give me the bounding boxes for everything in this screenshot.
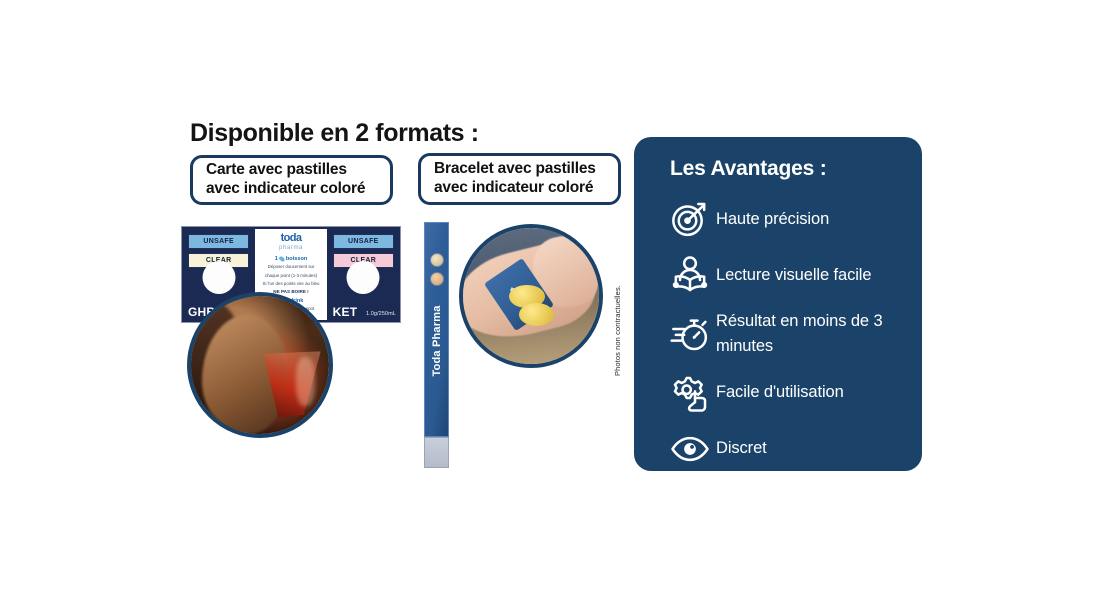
- photo-disclaimer: Photos non contractuelles.: [613, 285, 622, 376]
- instruction-fr-line3: Si l'un des points vire au bleu: [263, 281, 320, 287]
- format-box-bracelet[interactable]: Bracelet avec pastilles avec indicateur …: [418, 153, 621, 205]
- stopwatch-icon: [664, 314, 716, 354]
- instruction-fr-line1: Déposer doucement sur: [268, 264, 315, 270]
- strap-body: Toda Pharma: [424, 222, 449, 437]
- ghb-chip-unsafe: UNSAFE: [188, 234, 249, 249]
- photo-drink-inner: [191, 296, 329, 434]
- advantage-item-reading: Lecture visuelle facile: [664, 253, 912, 297]
- advantage-label-discreet: Discret: [716, 436, 767, 461]
- strap-pastille-2: [430, 272, 444, 286]
- advantage-label-speed: Résultat en moins de 3 minutes: [716, 309, 912, 359]
- advantage-label-precision: Haute précision: [716, 207, 829, 232]
- instruction-fr-warning: NE PAS BOIRE !: [273, 289, 308, 294]
- advantages-panel: Les Avantages : Haute précision: [634, 137, 922, 471]
- format-bracelet-line1: Bracelet avec pastilles: [434, 160, 596, 179]
- promo-graphic: Disponible en 2 formats : Carte avec pas…: [0, 0, 1100, 611]
- photo-wrist-bracelet: [459, 224, 603, 368]
- photo-wrist-pastille-2: [519, 303, 554, 326]
- ket-label: KET: [333, 305, 358, 319]
- strap-pastille-1: [430, 253, 444, 267]
- ket-chip-unsafe: UNSAFE: [333, 234, 394, 249]
- strap-tail: [424, 437, 449, 468]
- format-carte-text: Carte avec pastilles avec indicateur col…: [193, 161, 365, 199]
- advantage-item-speed: Résultat en moins de 3 minutes: [664, 309, 912, 359]
- photo-woman-drinking: [187, 292, 333, 438]
- target-icon: [664, 199, 716, 239]
- instruction-fr-line2: chaque point (1-3 minutes): [265, 273, 317, 279]
- page-title: Disponible en 2 formats :: [190, 119, 479, 148]
- drop-icon: [278, 256, 285, 263]
- advantage-label-ease: Facile d'utilisation: [716, 380, 844, 405]
- eye-icon: [664, 429, 716, 469]
- toda-logo-top: toda: [281, 233, 302, 244]
- advantage-item-discreet: Discret: [664, 427, 912, 471]
- format-box-carte[interactable]: Carte avec pastilles avec indicateur col…: [190, 155, 393, 205]
- card-panel-ket: UNSAFE CLEAR KET 1.0g/250mL: [327, 227, 400, 322]
- format-bracelet-text: Bracelet avec pastilles avec indicateur …: [421, 160, 596, 198]
- format-carte-line1: Carte avec pastilles: [206, 161, 365, 180]
- instruction-fr-title-row: 1 boisson: [275, 256, 308, 262]
- advantages-list: Haute précision Lecture visuelle facile: [664, 197, 912, 483]
- instruction-fr-title: boisson: [286, 256, 307, 262]
- toda-logo-bottom: pharma: [279, 244, 303, 252]
- ket-test-spot: [347, 261, 380, 294]
- gear-hand-icon: [664, 373, 716, 413]
- advantages-title: Les Avantages :: [670, 157, 827, 181]
- ghb-test-spot: [202, 261, 235, 294]
- strap-brand-text: Toda Pharma: [431, 305, 443, 376]
- reading-person-icon: [664, 255, 716, 295]
- format-bracelet-line2: avec indicateur coloré: [434, 179, 596, 198]
- advantage-item-precision: Haute précision: [664, 197, 912, 241]
- bracelet-strap-product: Toda Pharma: [424, 222, 449, 468]
- format-carte-line2: avec indicateur coloré: [206, 180, 365, 199]
- advantage-item-ease: Facile d'utilisation: [664, 371, 912, 415]
- advantage-label-reading: Lecture visuelle facile: [716, 263, 871, 288]
- photo-drink-highlight: [296, 357, 315, 407]
- ket-dose: 1.0g/250mL: [366, 311, 396, 317]
- instruction-fr-count: 1: [275, 256, 278, 262]
- photo-wrist-inner: [463, 228, 599, 364]
